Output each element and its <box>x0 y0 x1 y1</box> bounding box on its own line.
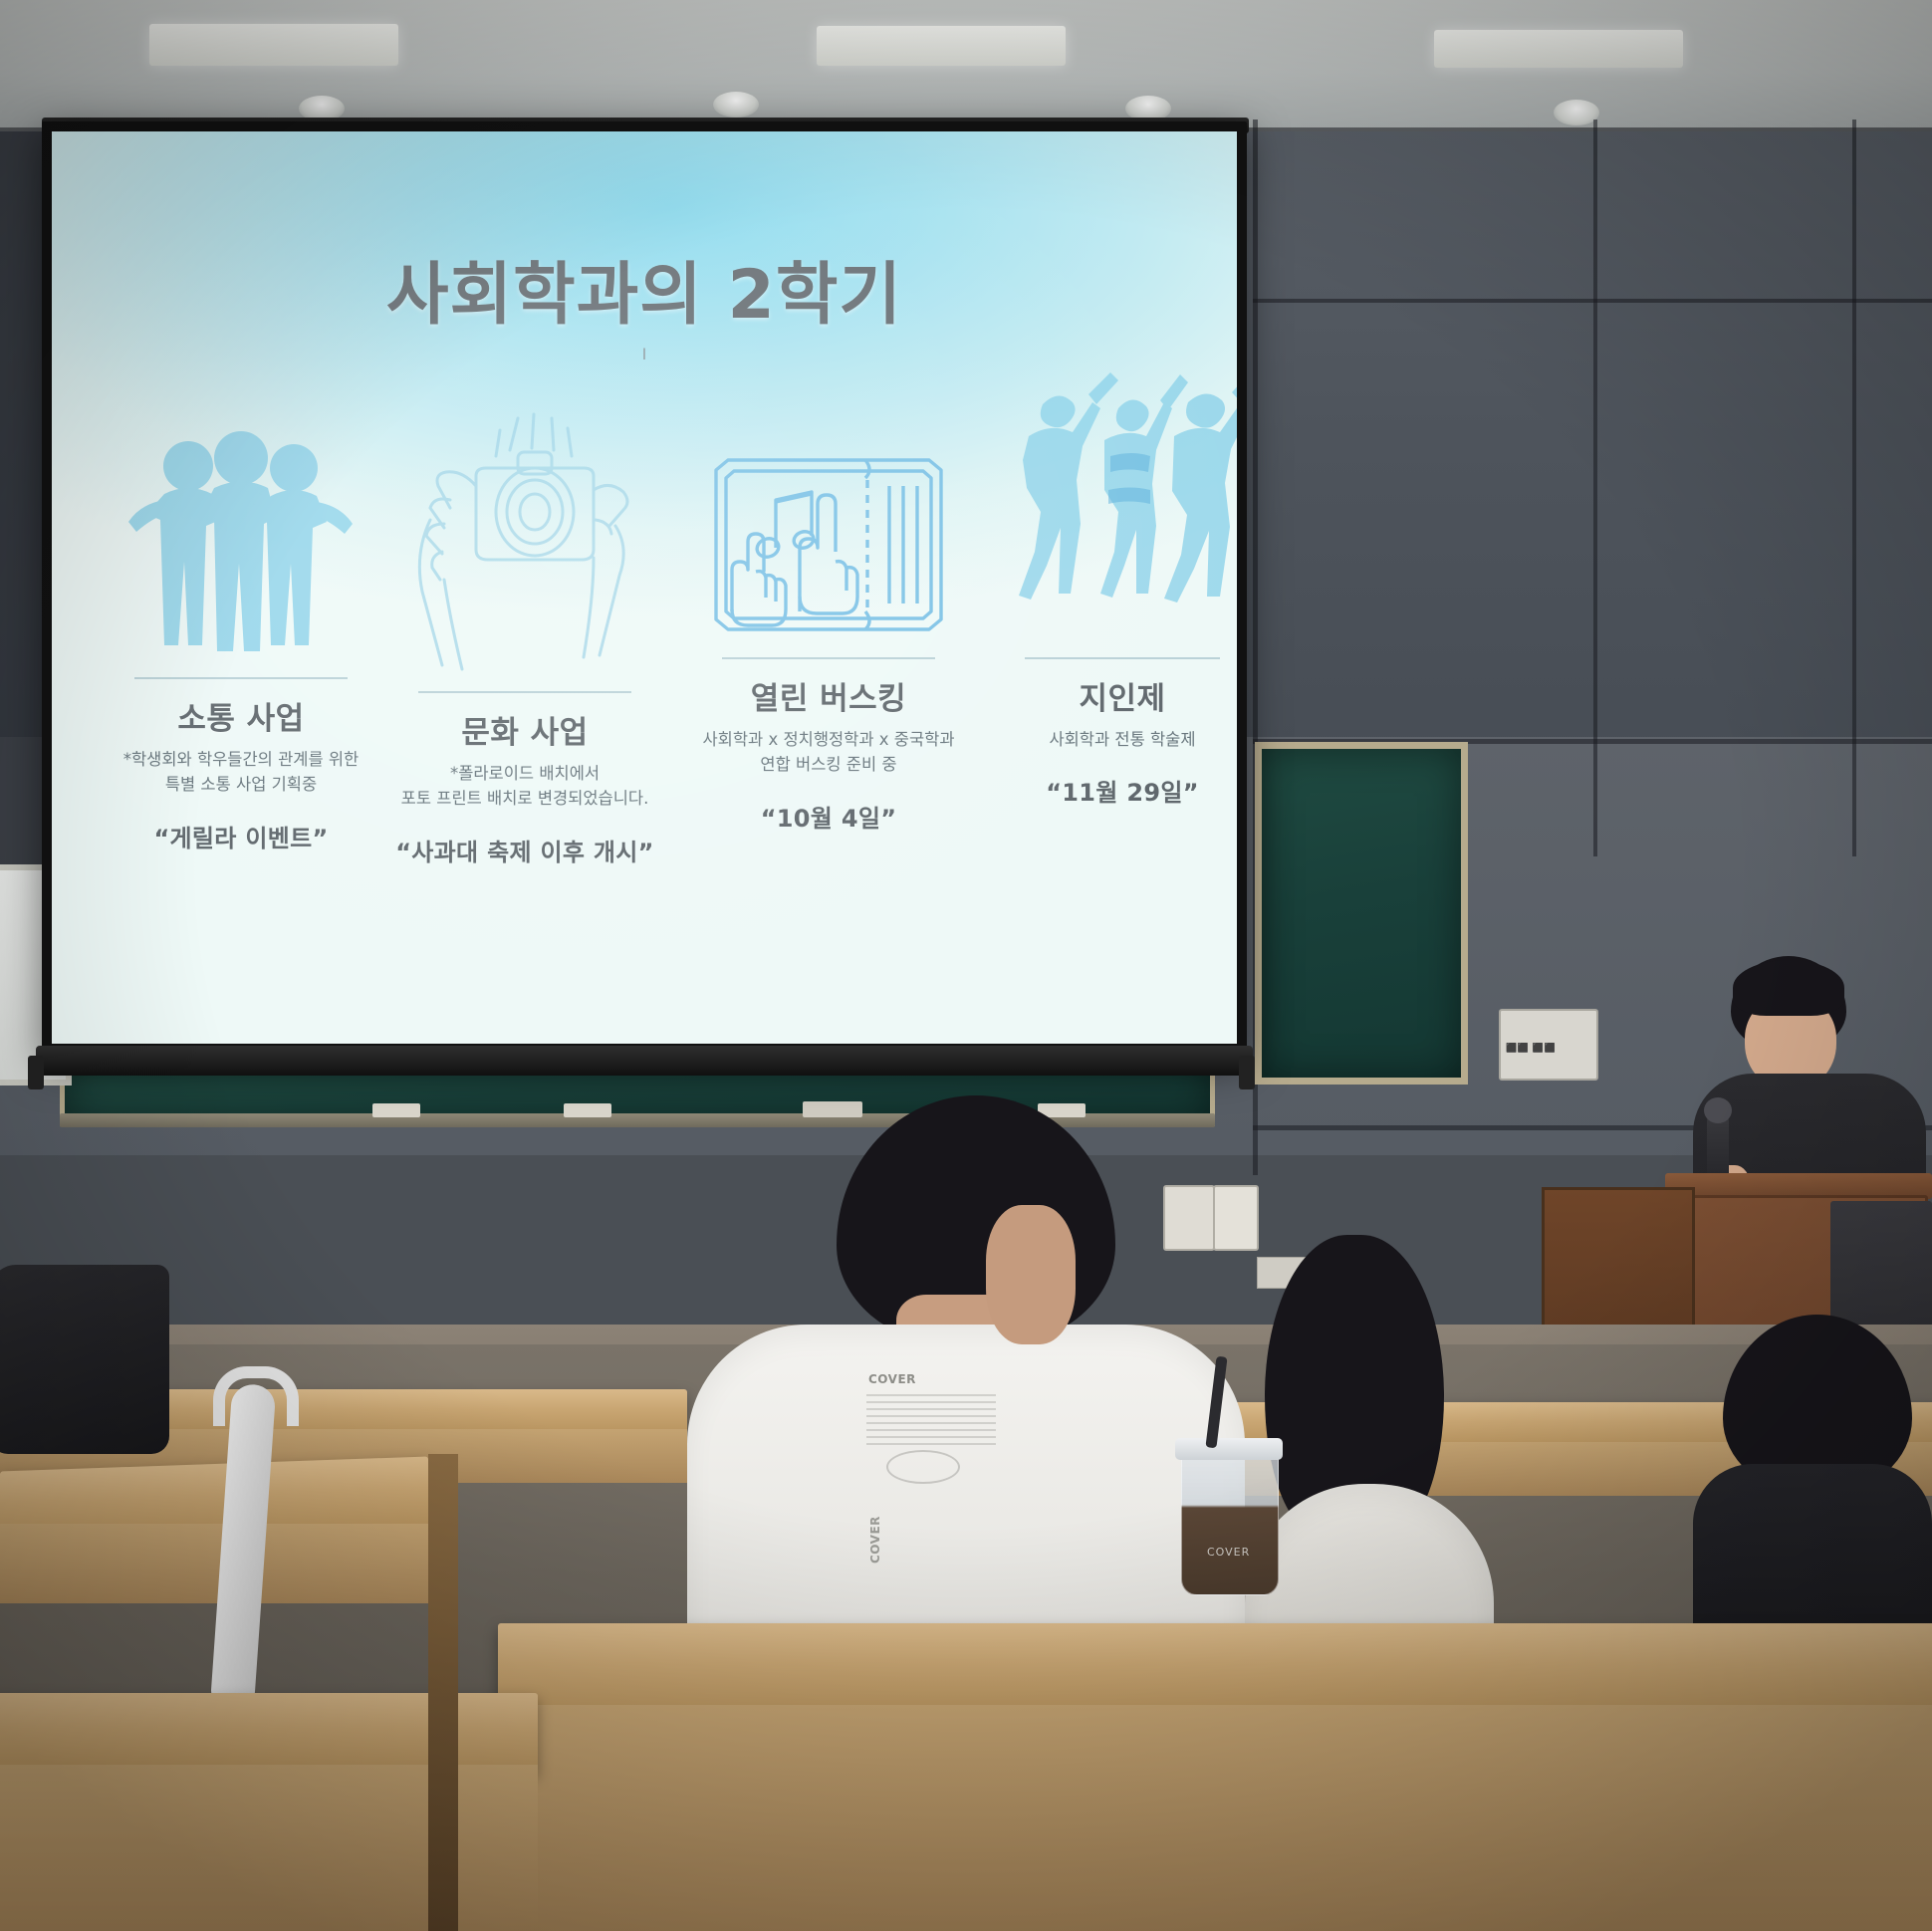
wall-seam-v3 <box>1852 120 1856 856</box>
wall-seam-h1 <box>1253 299 1932 303</box>
column-2-divider <box>418 691 631 693</box>
front-student-shirt-text-1: COVER <box>868 1372 916 1386</box>
column-1-sub-line-2: 특별 소통 사업 기획중 <box>92 773 390 796</box>
bench-left-front <box>0 1524 428 1603</box>
concert-ticket-icon <box>704 444 953 643</box>
presentation-slide: 사회학과의 2학기 I <box>52 131 1237 1044</box>
front-student-arm <box>986 1205 1076 1344</box>
downlight-2 <box>713 92 759 118</box>
ceiling-light-1 <box>149 24 398 66</box>
far-right-student <box>1693 1315 1932 1643</box>
cup-lid <box>1175 1438 1283 1460</box>
column-4-divider <box>1025 657 1220 659</box>
screen-roller-left <box>28 1056 44 1089</box>
umbrella-handle <box>213 1366 299 1426</box>
column-3-divider <box>722 657 935 659</box>
backpack <box>0 1265 169 1454</box>
column-1-sub-line-1: *학생회와 학우들간의 관계를 위한 <box>92 748 390 771</box>
front-student-shirt-logo <box>886 1450 960 1484</box>
column-1-divider <box>134 677 348 679</box>
column-4-quote: “11월 29일” <box>978 773 1237 808</box>
bench-divider <box>428 1454 458 1931</box>
three-people-icon <box>126 424 356 663</box>
slide-title: 사회학과의 2학기 <box>52 239 1237 338</box>
front-bench <box>498 1623 1932 1713</box>
column-4-sub-line-1: 사회학과 전통 학술제 <box>978 728 1237 751</box>
column-2-quote: “사과대 축제 이후 개시” <box>370 833 679 867</box>
front-student-shirt-text-2: COVER <box>868 1516 882 1564</box>
column-2-sub-line-2: 포토 프린트 배치로 변경되었습니다. <box>370 787 679 810</box>
column-3-quote: “10월 4일” <box>669 799 988 834</box>
front-bench-front <box>498 1705 1932 1931</box>
slide-column-4: 지인제 사회학과 전통 학술제 “11월 29일” <box>978 605 1237 808</box>
chalk-eraser-1 <box>372 1103 420 1117</box>
wall-seam-v2 <box>1593 120 1597 856</box>
chalkboard-right <box>1255 742 1468 1085</box>
chalk-eraser-2 <box>564 1103 611 1117</box>
column-3-sub-line-2: 연합 버스킹 준비 중 <box>669 753 988 776</box>
microphone-head <box>1704 1097 1732 1123</box>
hands-holding-camera-icon <box>400 408 649 677</box>
slide-column-3: 열린 버스킹 사회학과 x 정치행정학과 x 중국학과 연합 버스킹 준비 중 … <box>669 709 988 834</box>
dancing-people-icon <box>993 345 1237 643</box>
front-student: COVER COVER <box>687 1095 1245 1653</box>
column-2-title: 문화 사업 <box>370 707 679 752</box>
ceiling-light-2 <box>817 26 1066 66</box>
lecture-hall-photo: ⬛⬛ ⬛⬛ 사회학과의 2학기 I <box>0 0 1932 1931</box>
column-2-sub-line-1: *폴라로이드 배치에서 <box>370 762 679 785</box>
slide-columns: 소통 사업 *학생회와 학우들간의 관계를 위한 특별 소통 사업 기획중 “게… <box>52 380 1237 1018</box>
column-4-title: 지인제 <box>978 673 1237 718</box>
cup-text: COVER <box>1207 1546 1250 1559</box>
screen-roller-right <box>1239 1056 1255 1089</box>
column-3-title: 열린 버스킹 <box>669 673 988 718</box>
ceiling-light-3 <box>1434 30 1683 68</box>
screen-bottom-bar <box>36 1046 1253 1076</box>
slide-column-1: 소통 사업 *학생회와 학우들간의 관계를 위한 특별 소통 사업 기획중 “게… <box>92 625 390 853</box>
front-student-shirt-print <box>866 1394 996 1450</box>
column-3-sub-line-1: 사회학과 x 정치행정학과 x 중국학과 <box>669 728 988 751</box>
slide-column-2: 문화 사업 *폴라로이드 배치에서 포토 프린트 배치로 변경되었습니다. “사… <box>370 530 679 867</box>
iced-coffee-cup <box>1181 1444 1279 1595</box>
control-panel-label: ⬛⬛ ⬛⬛ <box>1506 1044 1556 1054</box>
column-1-title: 소통 사업 <box>92 693 390 738</box>
presenter-fringe <box>1733 960 1844 1016</box>
column-1-quote: “게릴라 이벤트” <box>92 819 390 853</box>
